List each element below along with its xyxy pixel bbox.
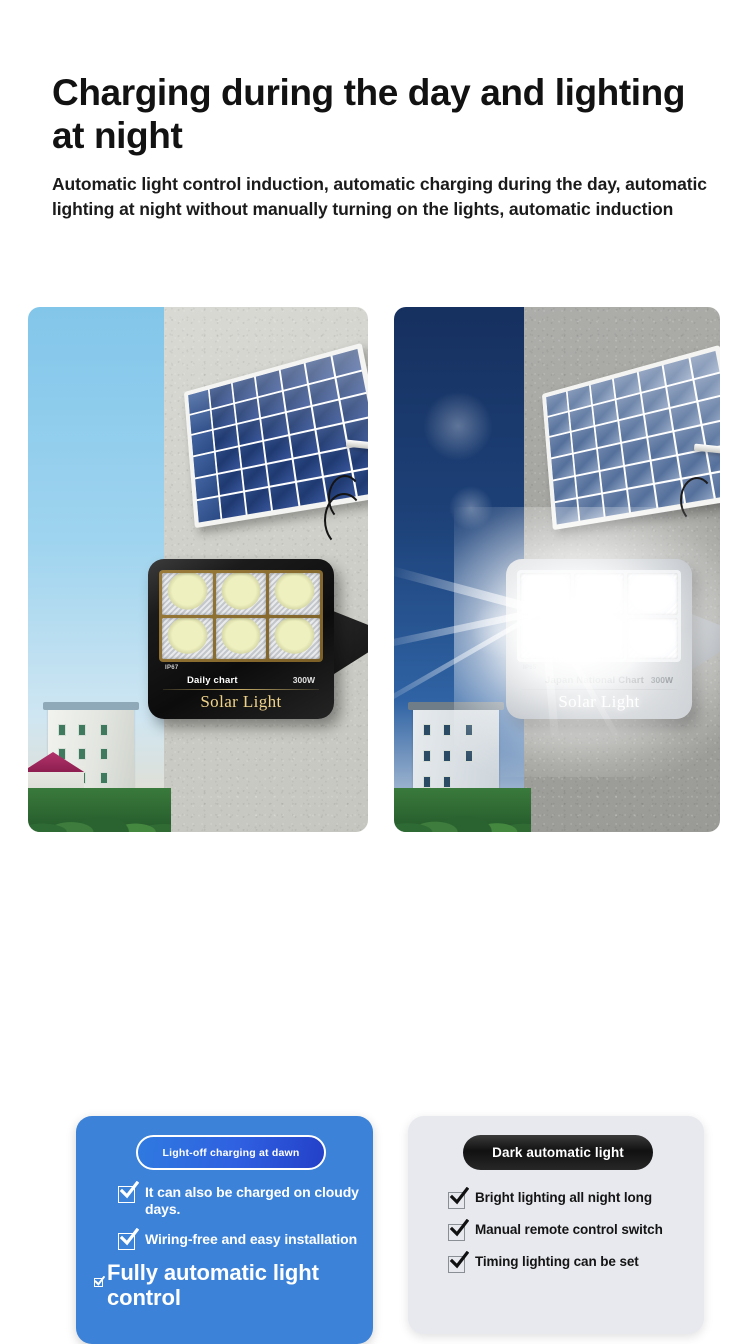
- led-module-array: [517, 570, 681, 662]
- feature-item: Manual remote control switch: [408, 1222, 704, 1241]
- feature-label: It can also be charged on cloudy days.: [145, 1184, 373, 1218]
- checkbox-checked-icon: [448, 1192, 465, 1209]
- flood-lamp-day: IP67 Daily chart 300W Solar Light: [148, 559, 334, 719]
- flood-lamp-night: IP65 Japan National Chart 300W Solar Lig…: [506, 559, 692, 719]
- feature-item: Wiring-free and easy installation: [76, 1231, 373, 1250]
- feature-item-emphasis: Fully automatic light control: [76, 1261, 373, 1310]
- lamp-model-text: Japan National Chart: [545, 675, 644, 686]
- checkbox-checked-icon: [448, 1256, 465, 1273]
- feature-label: Bright lighting all night long: [475, 1190, 652, 1206]
- badge-light-off-charging: Light-off charging at dawn: [136, 1135, 326, 1170]
- feature-panels: IP67 Daily chart 300W Solar Light Light-…: [0, 307, 750, 1047]
- feature-card-night: Dark automatic light Bright lighting all…: [408, 1116, 704, 1334]
- lamp-wattage: 300W: [293, 675, 315, 685]
- product-photo-daytime: IP67 Daily chart 300W Solar Light: [28, 307, 368, 832]
- lens-flare: [423, 391, 493, 461]
- page-header: Charging during the day and lighting at …: [52, 72, 712, 222]
- checkbox-checked-icon: [448, 1224, 465, 1241]
- building-roof: [43, 702, 139, 710]
- feature-list-day: It can also be charged on cloudy days. W…: [76, 1184, 373, 1323]
- checkbox-checked-icon: [118, 1233, 135, 1250]
- feature-card-day: Light-off charging at dawn It can also b…: [76, 1116, 373, 1344]
- building-roof: [408, 702, 504, 710]
- badge-dark-automatic-light: Dark automatic light: [463, 1135, 653, 1170]
- power-cable-loop: [324, 493, 364, 547]
- power-cable: [680, 477, 714, 523]
- feature-list-night: Bright lighting all night long Manual re…: [408, 1190, 704, 1286]
- lens-flare: [449, 486, 493, 530]
- lamp-label-plate: IP67 Daily chart 300W Solar Light: [159, 662, 323, 718]
- feature-item: Bright lighting all night long: [408, 1190, 704, 1209]
- checkbox-checked-icon: [94, 1278, 103, 1287]
- lamp-brand-name: Solar Light: [159, 692, 323, 712]
- feature-label: Timing lighting can be set: [475, 1254, 639, 1270]
- lamp-label-divider: [521, 689, 677, 690]
- feature-item: It can also be charged on cloudy days.: [76, 1184, 373, 1218]
- lamp-ip-rating: IP65: [523, 665, 537, 671]
- checkbox-checked-icon: [118, 1186, 135, 1203]
- lamp-wattage: 300W: [651, 675, 673, 685]
- feature-item: Timing lighting can be set: [408, 1254, 704, 1273]
- vegetation: [28, 788, 171, 832]
- lamp-ip-rating: IP67: [165, 665, 179, 671]
- led-module-array: [159, 570, 323, 662]
- feature-label: Wiring-free and easy installation: [145, 1231, 357, 1248]
- page-subtitle: Automatic light control induction, autom…: [52, 172, 712, 222]
- panel-day-charging: IP67 Daily chart 300W Solar Light Light-…: [28, 307, 368, 967]
- product-photo-night: IP65 Japan National Chart 300W Solar Lig…: [394, 307, 720, 832]
- feature-label: Manual remote control switch: [475, 1222, 663, 1238]
- panel-night-lighting: IP65 Japan National Chart 300W Solar Lig…: [394, 307, 734, 967]
- vegetation: [394, 788, 531, 832]
- page-title: Charging during the day and lighting at …: [52, 72, 712, 158]
- feature-label: Fully automatic light control: [107, 1261, 373, 1310]
- lamp-label-divider: [163, 689, 319, 690]
- lamp-model-text: Daily chart: [187, 675, 238, 686]
- lamp-label-plate: IP65 Japan National Chart 300W Solar Lig…: [517, 662, 681, 718]
- lamp-brand-name: Solar Light: [517, 692, 681, 712]
